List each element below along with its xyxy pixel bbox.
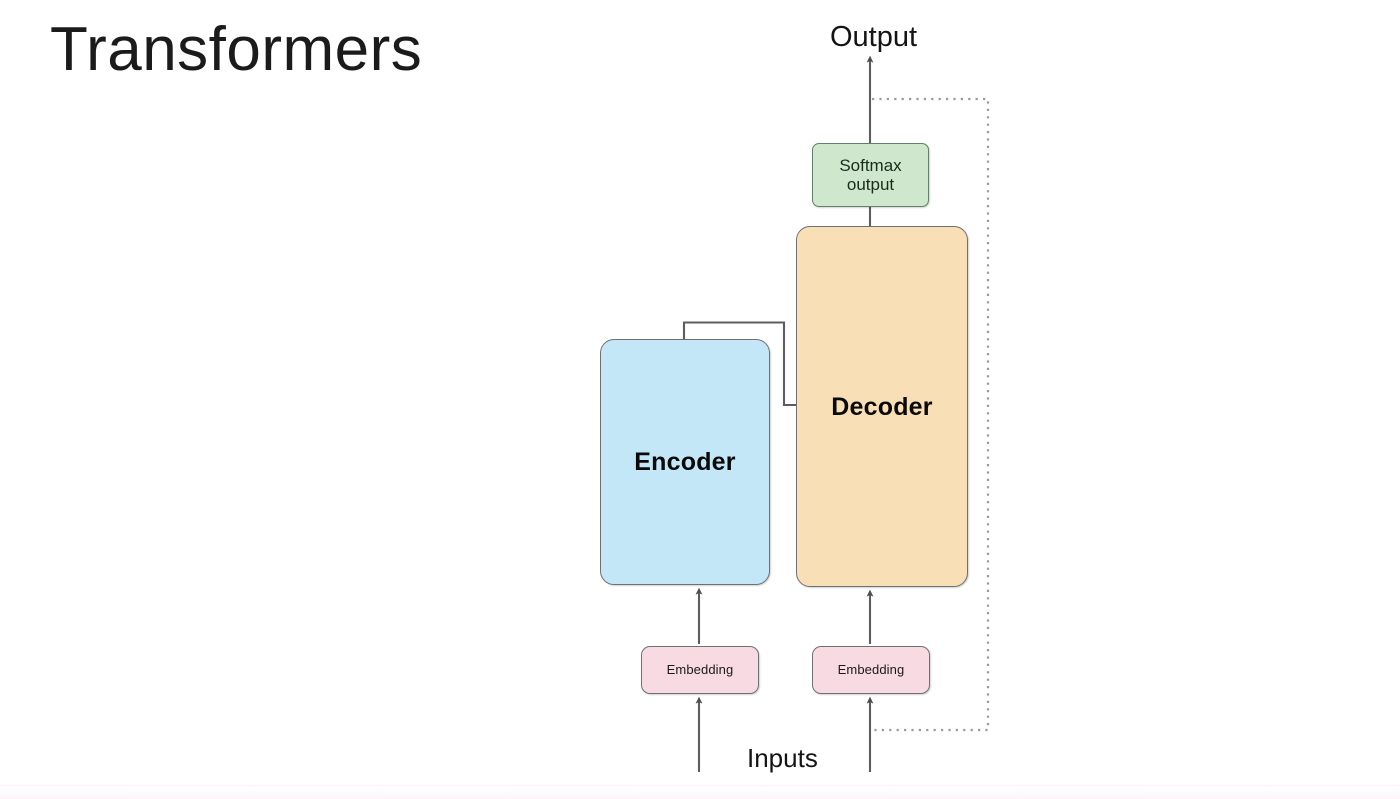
encoder-block[interactable]: Encoder (600, 339, 770, 585)
decoder-embedding-label: Embedding (838, 663, 905, 678)
slide-canvas: Transformers (0, 0, 1400, 799)
output-label: Output (830, 21, 917, 54)
encoder-embedding-label: Embedding (667, 663, 734, 678)
encoder-label: Encoder (634, 448, 735, 476)
encoder-embedding-block[interactable]: Embedding (641, 646, 759, 694)
softmax-label-line-1: Softmax (839, 156, 901, 175)
decoder-embedding-block[interactable]: Embedding (812, 646, 930, 694)
decoder-block[interactable]: Decoder (796, 226, 968, 587)
inputs-label: Inputs (747, 743, 818, 774)
transformer-architecture-diagram: Encoder Decoder Softmax output Embedding… (0, 0, 1400, 799)
softmax-output-block[interactable]: Softmax output (812, 143, 929, 207)
softmax-output-label: Softmax output (839, 156, 901, 194)
bottom-strip (0, 785, 1400, 799)
softmax-label-line-2: output (847, 175, 894, 194)
decoder-label: Decoder (831, 393, 932, 421)
